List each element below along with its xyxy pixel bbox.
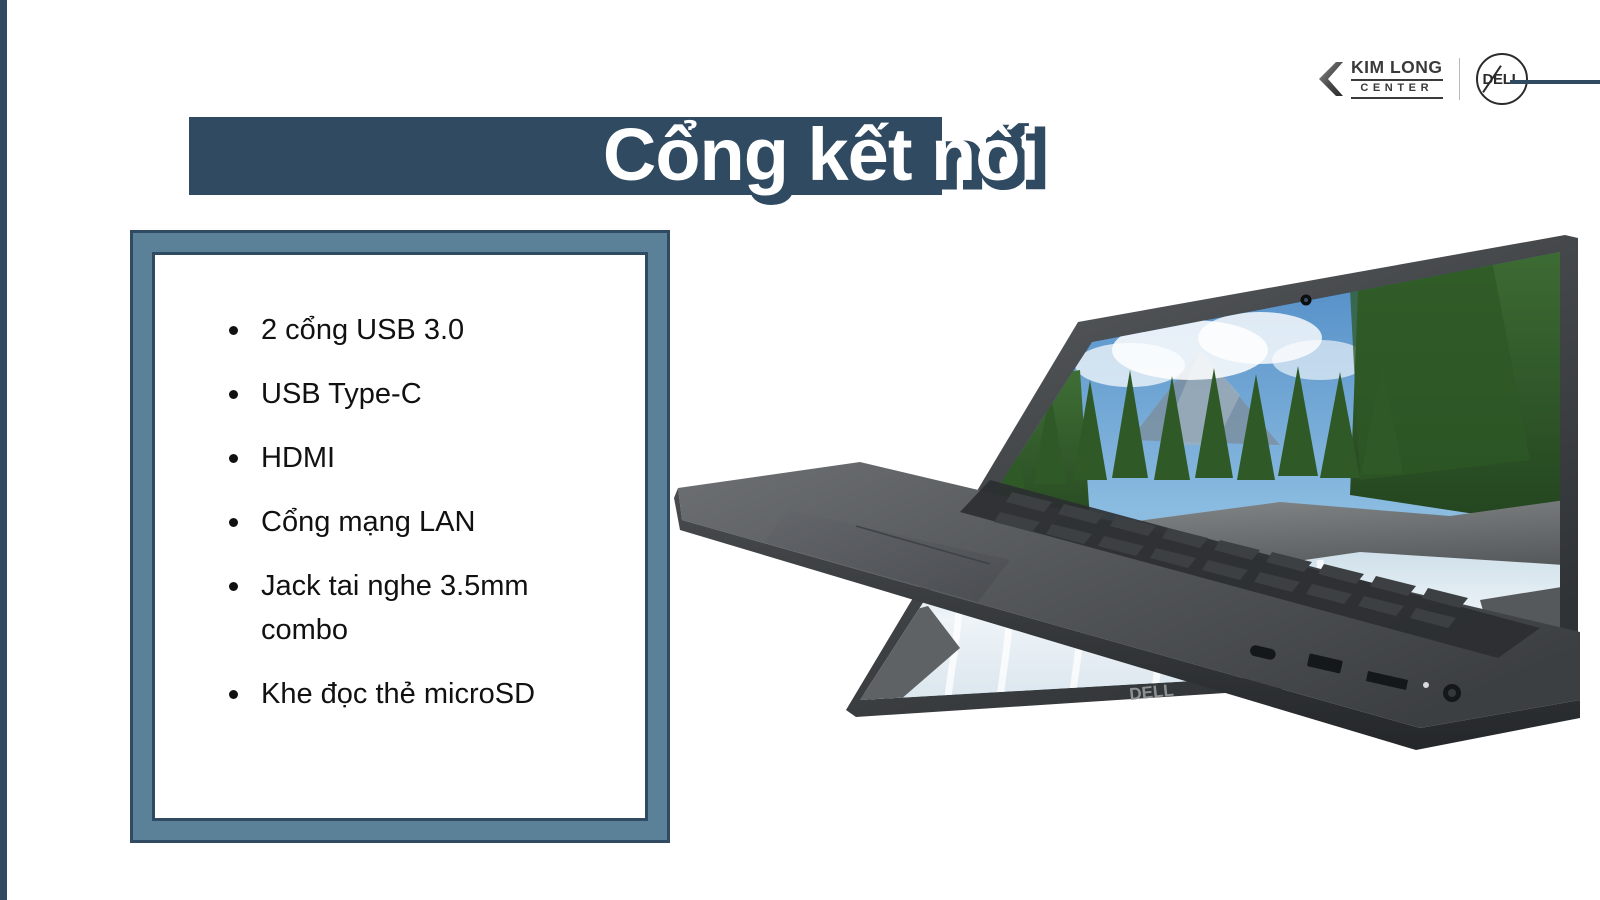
left-edge-accent-rule <box>0 0 7 900</box>
brand-bar: KIM LONG CENTER DELL <box>1318 54 1528 104</box>
brand-divider <box>1459 58 1460 100</box>
status-led-icon <box>1423 682 1429 688</box>
list-item: 2 cổng USB 3.0 <box>227 308 601 352</box>
page-title-text: Cổng kết nối <box>189 105 1039 205</box>
ports-panel-frame: 2 cổng USB 3.0 USB Type-C HDMI Cổng mạng… <box>130 230 670 843</box>
lid-dell-logo: DELL <box>1128 680 1174 704</box>
dell-laptop-image: DELL <box>660 230 1580 790</box>
brand-line-kim-long: KIM LONG <box>1351 59 1443 77</box>
chevron-left-icon <box>1318 62 1344 96</box>
brand-accent-rule <box>1510 80 1600 84</box>
slide-root: KIM LONG CENTER DELL Cổng kết nối Cổng k… <box>0 0 1600 900</box>
list-item: Khe đọc thẻ microSD <box>227 672 601 716</box>
page-title: Cổng kết nối Cổng kết nối <box>189 105 1189 205</box>
list-item: HDMI <box>227 436 601 480</box>
ports-list: 2 cổng USB 3.0 USB Type-C HDMI Cổng mạng… <box>155 255 645 717</box>
dell-logo: DELL <box>1476 53 1528 105</box>
kim-long-center-logo: KIM LONG CENTER <box>1318 59 1443 99</box>
list-item: USB Type-C <box>227 372 601 416</box>
ports-panel-inner: 2 cổng USB 3.0 USB Type-C HDMI Cổng mạng… <box>152 252 648 821</box>
brand-rule-lower <box>1351 97 1443 99</box>
brand-rule-upper <box>1351 79 1443 81</box>
laptop-illustration: DELL <box>660 230 1580 790</box>
list-item: Cổng mạng LAN <box>227 500 601 544</box>
list-item: Jack tai nghe 3.5mm combo <box>227 564 601 652</box>
brand-line-center: CENTER <box>1351 83 1443 94</box>
kim-long-center-wordmark: KIM LONG CENTER <box>1351 59 1443 99</box>
